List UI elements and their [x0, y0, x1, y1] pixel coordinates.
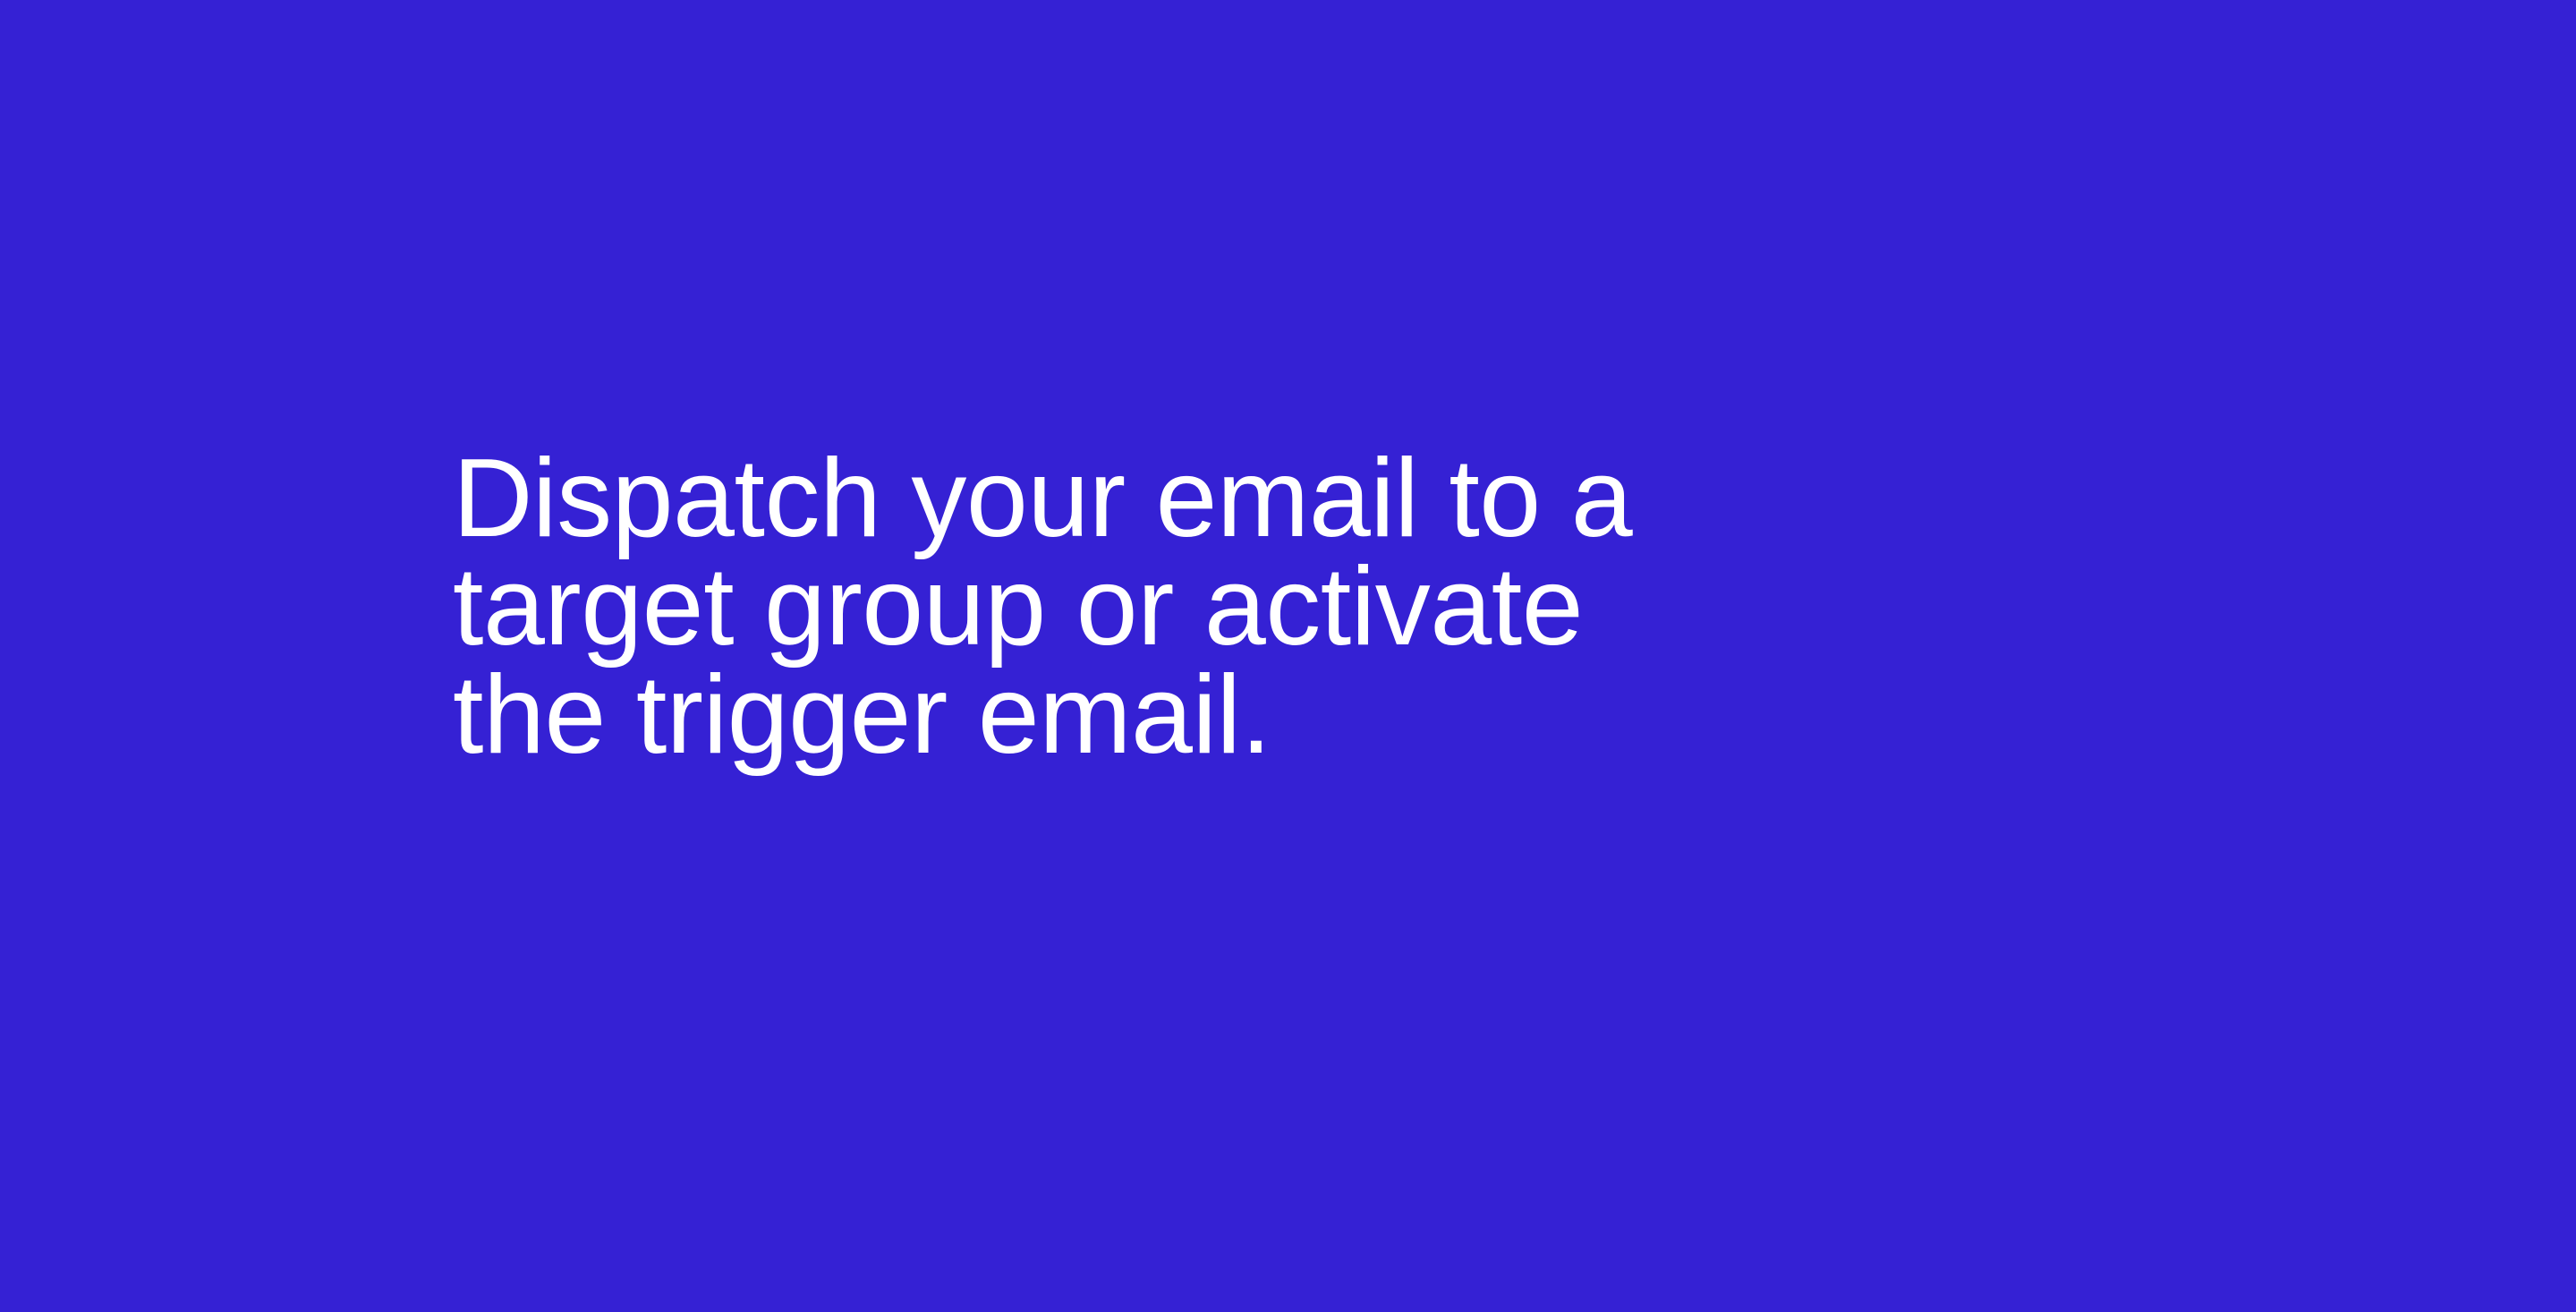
headline-line-1: Dispatch your email to a	[453, 445, 1705, 553]
headline-line-2: target group or activate	[453, 553, 1705, 661]
headline-line-3: the trigger email.	[453, 661, 1705, 770]
slide-canvas: Dispatch your email to a target group or…	[0, 0, 2576, 1312]
headline-text-block: Dispatch your email to a target group or…	[453, 445, 1705, 770]
